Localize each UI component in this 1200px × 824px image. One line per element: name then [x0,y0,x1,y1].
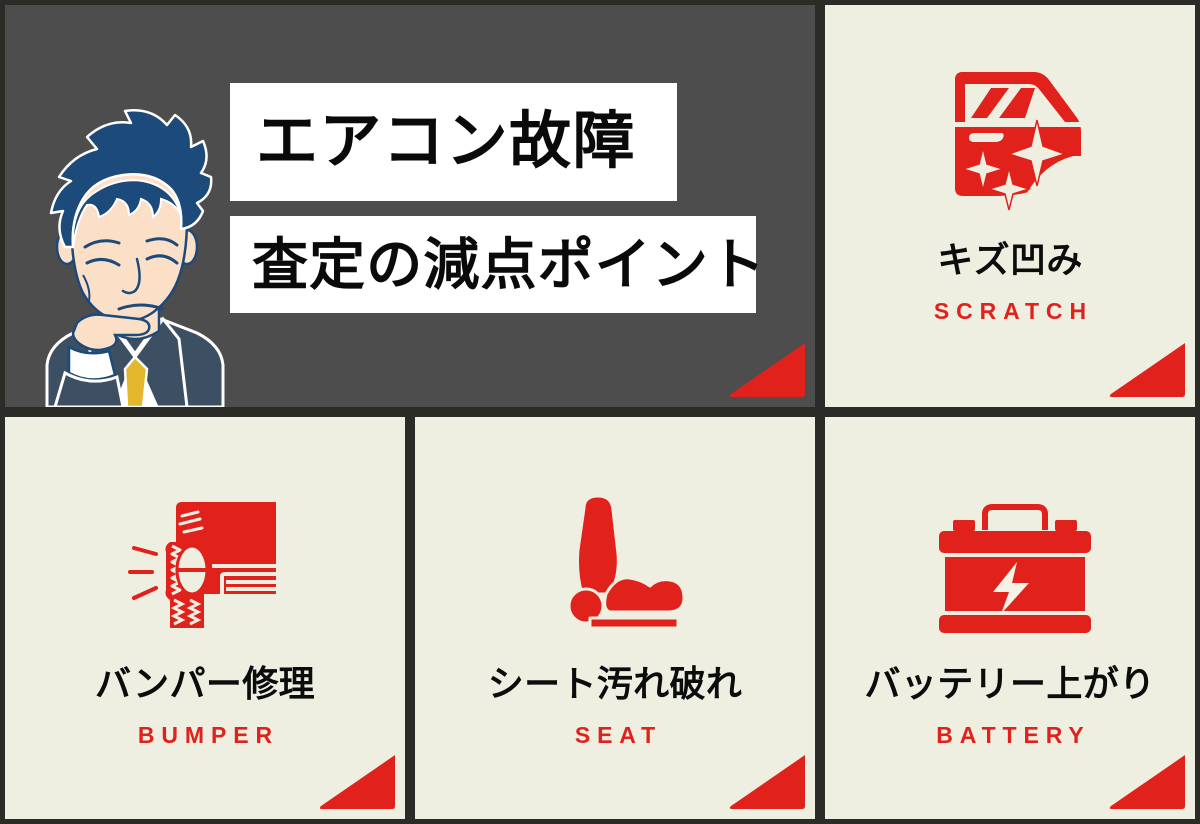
car-door-scratch-icon [925,62,1095,212]
card-label-en: BUMPER [131,724,279,747]
card-scratch[interactable]: キズ凹み SCRATCH [820,0,1200,412]
card-battery[interactable]: バッテリー上がり BATTERY [820,412,1200,824]
card-label-en: SCRATCH [927,300,1093,323]
corner-accent-triangle [1105,339,1189,401]
corner-accent-triangle [1105,751,1189,813]
card-bumper[interactable]: バンパー修理 BUMPER [0,412,410,824]
card-grid: エアコン故障 査定の減点ポイント [0,0,1200,824]
damaged-bumper-icon [120,490,290,640]
card-label-en: SEAT [568,724,662,747]
car-battery-icon [925,490,1095,640]
corner-accent-triangle [315,751,399,813]
thinking-businessman-illustration [11,107,251,407]
card-label-ja: シート汚れ破れ [488,666,743,702]
card-label-ja: バンパー修理 [95,666,315,702]
corner-accent-triangle [725,751,809,813]
card-label-en: BATTERY [929,724,1090,747]
hero-title-group: エアコン故障 査定の減点ポイント [230,83,756,313]
card-label-ja: バッテリー上がり [865,666,1156,702]
hero-title-line-2: 査定の減点ポイント [230,216,756,313]
card-label-ja: キズ凹み [937,242,1082,278]
card-seat[interactable]: シート汚れ破れ SEAT [410,412,820,824]
hero-panel: エアコン故障 査定の減点ポイント [0,0,820,412]
hero-title-line-1: エアコン故障 [230,83,677,201]
car-seat-icon [530,490,700,640]
corner-accent-triangle [725,339,809,401]
